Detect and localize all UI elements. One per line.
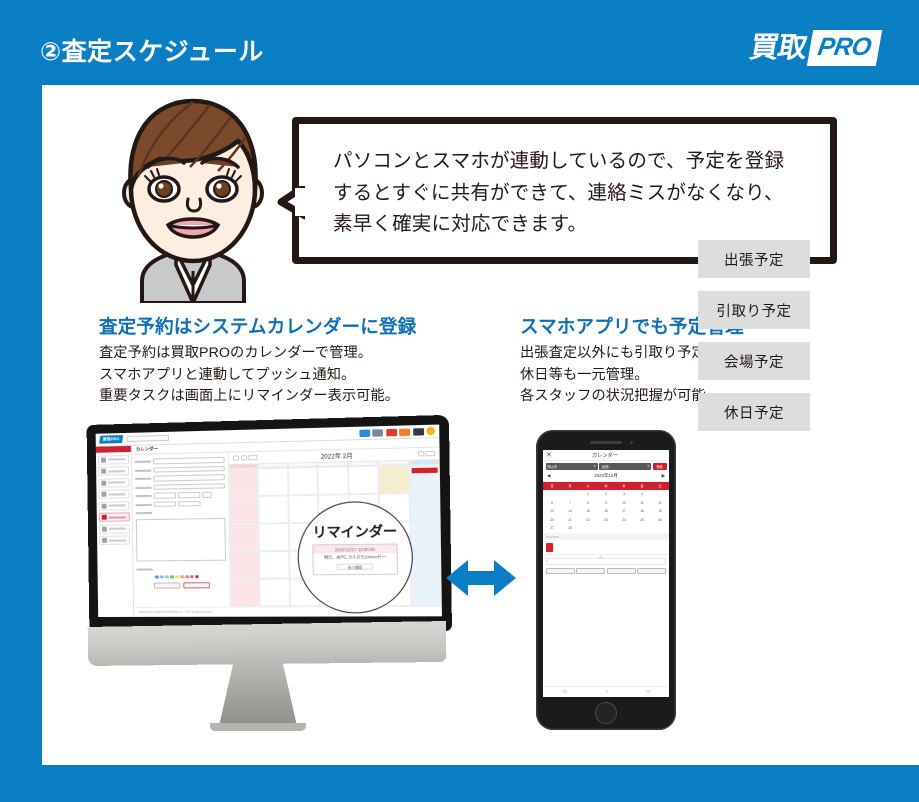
phone-day-cell[interactable]: 27 xyxy=(543,524,561,533)
phone-day-cell[interactable]: 4 xyxy=(633,490,651,499)
speech-bubble-text: パソコンとスマホが連動しているので、予定を登録するとすぐに共有ができて、連絡ミス… xyxy=(333,146,803,241)
calendar-view-toggle xyxy=(417,451,435,457)
left-column-heading: 査定予約はシステムカレンダーに登録 xyxy=(99,313,519,339)
web-app-footer: Copyright (C) 2022 KAITORI PRO CO., LTD.… xyxy=(134,606,442,617)
form-buttons xyxy=(137,582,227,589)
color-swatch-group xyxy=(155,574,226,578)
purchase-icon xyxy=(101,469,106,474)
phone-day-cell[interactable]: 13 xyxy=(543,507,561,516)
calendar-day-cell[interactable] xyxy=(260,579,290,607)
input-title[interactable] xyxy=(153,457,224,464)
phone-day-cell[interactable]: 10 xyxy=(615,498,633,507)
phone-day-cell[interactable]: 20 xyxy=(543,515,561,524)
sidebar-header xyxy=(96,446,131,453)
phone-day-cell[interactable]: 7 xyxy=(561,498,579,507)
calendar-day-cell[interactable] xyxy=(409,493,440,522)
weekday-tue: 火 xyxy=(579,482,597,490)
phone-day-cell[interactable]: 18 xyxy=(633,507,651,516)
label-start-date xyxy=(135,495,151,497)
phone-screen: ✕ カレンダー 岡山市 ▾ -全部- ▾ 検索 xyxy=(543,450,669,697)
phone-day-cell xyxy=(633,524,651,533)
input-start-date[interactable] xyxy=(154,493,176,499)
schedule-tag-holiday: 休日予定 xyxy=(698,393,810,431)
reminder-confirm-button[interactable]: 後で確認 xyxy=(337,564,373,571)
select-type[interactable] xyxy=(153,474,224,481)
sync-arrow-icon xyxy=(446,555,516,601)
next-month-icon[interactable]: ▶ xyxy=(662,473,665,479)
calendar-day-cell[interactable] xyxy=(258,468,288,496)
phone-event-detail xyxy=(546,558,666,565)
filter-type-value: -全部- xyxy=(601,464,610,469)
web-app-sidebar xyxy=(96,446,134,617)
reminder-popup: リマインダー 2021/12/17 12:00:00 明日、水戸にカルガモ100… xyxy=(297,500,414,613)
label-color xyxy=(137,568,153,570)
weekday-thu: 木 xyxy=(615,482,633,490)
phone-app-topbar: ✕ カレンダー xyxy=(543,450,669,461)
calendar-day-cell[interactable] xyxy=(348,466,379,495)
phone-day-cell[interactable]: 21 xyxy=(561,515,579,524)
calendar-day-cell[interactable] xyxy=(229,496,259,524)
input-start-time[interactable] xyxy=(178,492,201,498)
phone-day-cell xyxy=(651,524,669,533)
phone-day-cell[interactable]: 11 xyxy=(633,498,651,507)
phone-speaker xyxy=(590,441,622,444)
calendar-nav-group xyxy=(233,455,258,461)
weekday-fri: 金 xyxy=(633,482,651,490)
notification-icon[interactable] xyxy=(359,429,370,437)
phone-day-cell[interactable]: 28 xyxy=(561,524,579,533)
brand-logo-kanji: 買取 xyxy=(748,34,813,63)
label-staff xyxy=(135,469,151,471)
page-header: ②査定スケジュール 買取 PRO xyxy=(0,0,919,85)
color-swatch[interactable] xyxy=(155,575,159,579)
phone-event-item[interactable] xyxy=(543,540,669,555)
form-row-staff xyxy=(135,465,225,473)
phone-day-cell[interactable]: 22 xyxy=(579,515,597,524)
form-row-start xyxy=(135,491,225,499)
monitor-screen: 買取PRO xyxy=(96,425,442,617)
phone-month-nav: ◀ 2022年12月 ▶ xyxy=(543,472,669,482)
phone-day-cell[interactable]: 8 xyxy=(579,498,597,507)
form-row-type xyxy=(135,474,225,482)
phone-app: ✕ カレンダー 岡山市 ▾ -全部- ▾ 検索 xyxy=(543,450,669,697)
phone-calendar-week: 20 21 22 23 24 25 26 xyxy=(543,515,669,524)
label-type xyxy=(135,478,151,480)
content-card: パソコンとスマホが連動しているので、予定を登録するとすぐに共有ができて、連絡ミス… xyxy=(42,85,919,765)
color-swatch[interactable] xyxy=(185,575,189,579)
color-swatch[interactable] xyxy=(170,575,174,579)
web-app-logo: 買取PRO xyxy=(99,435,123,444)
allday-checkbox-start[interactable] xyxy=(202,492,211,498)
input-end-date[interactable] xyxy=(154,501,176,507)
weekday-wed: 水 xyxy=(597,482,615,490)
calendar-day-cell-highlighted[interactable] xyxy=(378,465,409,494)
form-row-store xyxy=(135,483,225,491)
inventory-icon xyxy=(101,492,106,497)
chevron-down-icon: ▾ xyxy=(647,464,649,468)
label-title xyxy=(135,461,151,463)
phone-day-cell[interactable]: 1 xyxy=(579,490,597,499)
task-icon[interactable] xyxy=(399,428,410,436)
phone-day-cell xyxy=(597,524,615,533)
schedule-tag-pickup: 引取り予定 xyxy=(698,291,810,329)
phone-day-cell[interactable]: 2 xyxy=(597,490,615,499)
color-swatch[interactable] xyxy=(180,575,184,579)
phone-calendar-week: 1 2 3 4 5 xyxy=(543,490,669,499)
input-end-time[interactable] xyxy=(178,501,201,507)
phone-day-cell[interactable]: 25 xyxy=(633,515,651,524)
color-swatch[interactable] xyxy=(165,575,169,579)
sidebar-item-staff[interactable] xyxy=(99,524,130,533)
month-view-button[interactable] xyxy=(417,451,424,456)
phone-month-label: 2022年12月 xyxy=(594,473,617,479)
next-month-button[interactable] xyxy=(241,455,247,460)
form-row-color-label xyxy=(136,565,226,572)
filter-staff-select[interactable]: 岡山市 ▾ xyxy=(546,463,598,470)
phone-day-cell[interactable]: 6 xyxy=(543,498,561,507)
calendar-day-cell[interactable] xyxy=(259,523,289,551)
select-staff[interactable] xyxy=(153,466,224,473)
reminder-box: 2021/12/17 12:00:00 明日、水戸にカルガモ100mm行ー 後で… xyxy=(312,543,398,575)
calendar-day-cell[interactable] xyxy=(230,551,260,579)
calendar-day-cell[interactable] xyxy=(410,578,441,606)
brand-logo: 買取 PRO xyxy=(747,30,882,66)
form-row-detail-label xyxy=(136,509,226,517)
left-column-line-1: 査定予約は買取PROのカレンダーで管理。 xyxy=(99,343,519,365)
character-illustration xyxy=(98,85,288,303)
desktop-monitor-mockup: 買取PRO xyxy=(88,425,438,730)
phone-day-cell xyxy=(615,524,633,533)
sidebar-item-master[interactable] xyxy=(99,535,130,544)
phone-day-cell[interactable]: 3 xyxy=(615,490,633,499)
phone-calendar-week: 6 7 8 9 10 11 12 xyxy=(543,498,669,507)
phone-front-camera xyxy=(630,441,633,444)
calendar-week-row xyxy=(229,464,440,496)
reminder-title: リマインダー xyxy=(298,519,411,541)
color-swatch[interactable] xyxy=(175,575,179,579)
monitor-stand-neck xyxy=(219,664,297,726)
today-button[interactable] xyxy=(248,455,257,460)
alert-icon[interactable] xyxy=(386,428,397,436)
phone-day-cell[interactable]: 19 xyxy=(651,507,669,516)
phone-day-cell[interactable]: 9 xyxy=(597,498,615,507)
inbox-icon[interactable] xyxy=(372,429,383,437)
calendar-day-cell[interactable] xyxy=(230,579,260,607)
phone-day-today-number: 5 xyxy=(659,492,661,496)
phone-calendar-week: 27 28 xyxy=(543,524,669,533)
label-detail xyxy=(136,512,152,514)
weekday-sun: 日 xyxy=(543,482,561,490)
phone-filter-row: 岡山市 ▾ -全部- ▾ 検索 xyxy=(543,461,669,472)
calendar-day-cell[interactable] xyxy=(259,495,289,523)
phone-day-cell-today[interactable]: 5 xyxy=(651,490,669,499)
calendar-day-cell[interactable] xyxy=(288,467,318,495)
logout-icon[interactable] xyxy=(426,427,435,436)
search-button[interactable]: 検索 xyxy=(653,463,667,470)
phone-day-cell xyxy=(579,524,597,533)
back-icon[interactable]: ◁ xyxy=(562,689,566,695)
phone-day-cell[interactable]: 12 xyxy=(651,498,669,507)
phone-day-cell[interactable]: 16 xyxy=(597,507,615,516)
filter-staff-value: 岡山市 xyxy=(548,464,558,469)
web-app-search-input[interactable] xyxy=(126,435,168,442)
phone-section-label: 2022/12/05 xyxy=(543,533,669,541)
phone-day-cell[interactable]: 23 xyxy=(597,515,615,524)
phone-day-cell[interactable]: 17 xyxy=(615,507,633,516)
color-swatch-selected[interactable] xyxy=(195,575,199,579)
smartphone-mockup: ✕ カレンダー 岡山市 ▾ -全部- ▾ 検索 xyxy=(536,430,676,730)
event-type-icon xyxy=(546,543,553,552)
input-detail-textarea[interactable] xyxy=(136,517,226,561)
speech-bubble-tail xyxy=(265,186,301,228)
phone-day-cell[interactable]: 14 xyxy=(561,507,579,516)
prev-month-icon[interactable]: ◀ xyxy=(547,473,550,479)
staff-icon xyxy=(102,526,107,531)
report-icon xyxy=(102,503,107,508)
phone-app-title: カレンダー xyxy=(552,452,658,459)
schedule-tag-business-trip: 出張予定 xyxy=(698,240,810,278)
color-swatch[interactable] xyxy=(190,575,194,579)
edit-schedule-button[interactable] xyxy=(637,568,666,574)
user-account-icon[interactable] xyxy=(413,428,424,436)
chevron-down-icon: ▾ xyxy=(594,464,596,468)
left-column-line-3: 重要タスクは画面上にリマインダー表示可能。 xyxy=(99,386,519,408)
list-view-button[interactable] xyxy=(425,451,435,456)
form-row-title xyxy=(135,457,225,465)
select-store[interactable] xyxy=(153,483,224,490)
calendar-day-cell[interactable] xyxy=(410,549,441,578)
phone-home-button[interactable] xyxy=(595,702,617,724)
phone-system-navbar: ◁ ○ □ xyxy=(543,686,669,697)
cleaning-icon xyxy=(101,480,106,485)
calendar-event-chip[interactable] xyxy=(411,468,438,473)
monitor-chin xyxy=(88,621,447,666)
event-summary xyxy=(556,543,667,552)
sidebar-item-purchase[interactable] xyxy=(98,466,129,476)
calendar-day-cell[interactable] xyxy=(230,524,260,552)
calendar-day-cell-with-event[interactable] xyxy=(409,464,440,493)
phone-calendar-week: 13 14 15 16 17 18 19 xyxy=(543,507,669,516)
left-column-line-2: スマホアプリと連動してプッシュ通知。 xyxy=(99,365,519,387)
monitor-bezel: 買取PRO xyxy=(87,415,452,631)
register-event-button[interactable] xyxy=(183,582,210,588)
phone-day-cell[interactable]: 26 xyxy=(651,515,669,524)
phone-day-cell[interactable]: 15 xyxy=(579,507,597,516)
sidebar-item-cleaning[interactable] xyxy=(98,478,129,488)
sidebar-item-calendar[interactable] xyxy=(99,512,130,522)
sidebar-item-customers[interactable] xyxy=(98,455,129,465)
cancel-button[interactable] xyxy=(153,582,179,588)
left-column: 査定予約はシステムカレンダーに登録 査定予約は買取PROのカレンダーで管理。 ス… xyxy=(99,313,519,408)
brand-logo-pro: PRO xyxy=(807,30,882,66)
assessment-sheet-button[interactable] xyxy=(607,568,636,574)
color-swatch[interactable] xyxy=(160,575,164,579)
calendar-day-cell[interactable] xyxy=(259,551,289,579)
weekday-sat: 土 xyxy=(651,482,669,490)
calendar-day-cell[interactable] xyxy=(318,466,349,494)
phone-day-cell[interactable] xyxy=(543,490,561,499)
calendar-day-cell[interactable] xyxy=(410,521,441,550)
schedule-tag-venue: 会場予定 xyxy=(698,342,810,380)
home-icon[interactable]: ○ xyxy=(605,689,608,695)
page-root: ②査定スケジュール 買取 PRO xyxy=(0,0,919,802)
event-form xyxy=(132,453,231,607)
phone-day-cell[interactable]: 24 xyxy=(615,515,633,524)
phone-weekday-header: 日 月 火 水 木 金 土 xyxy=(543,482,669,490)
monitor-stand-base xyxy=(210,723,306,731)
phone-action-buttons xyxy=(546,568,666,574)
recents-icon[interactable]: □ xyxy=(647,689,650,695)
sidebar-item-inventory[interactable] xyxy=(98,489,129,499)
master-settings-icon xyxy=(102,538,107,543)
calendar-day-cell[interactable] xyxy=(229,468,259,496)
sidebar-item-report[interactable] xyxy=(99,501,130,511)
form-row-end xyxy=(136,500,226,508)
schedule-tag-list: 出張予定 引取り予定 会場予定 休日予定 xyxy=(698,240,818,444)
call-button[interactable] xyxy=(546,568,575,574)
web-app-status-icons xyxy=(359,427,435,437)
label-store xyxy=(135,486,151,488)
page-title: ②査定スケジュール xyxy=(40,32,264,68)
reminder-message: 明日、水戸にカルガモ100mm行ー xyxy=(313,553,396,564)
filter-type-select[interactable]: -全部- ▾ xyxy=(599,463,651,470)
calendar-icon xyxy=(102,515,107,520)
weekday-mon: 月 xyxy=(561,482,579,490)
label-end-date xyxy=(136,503,152,505)
customers-icon xyxy=(101,457,106,462)
prev-month-button[interactable] xyxy=(233,455,239,460)
map-button[interactable] xyxy=(576,568,605,574)
phone-day-cell[interactable] xyxy=(561,490,579,499)
